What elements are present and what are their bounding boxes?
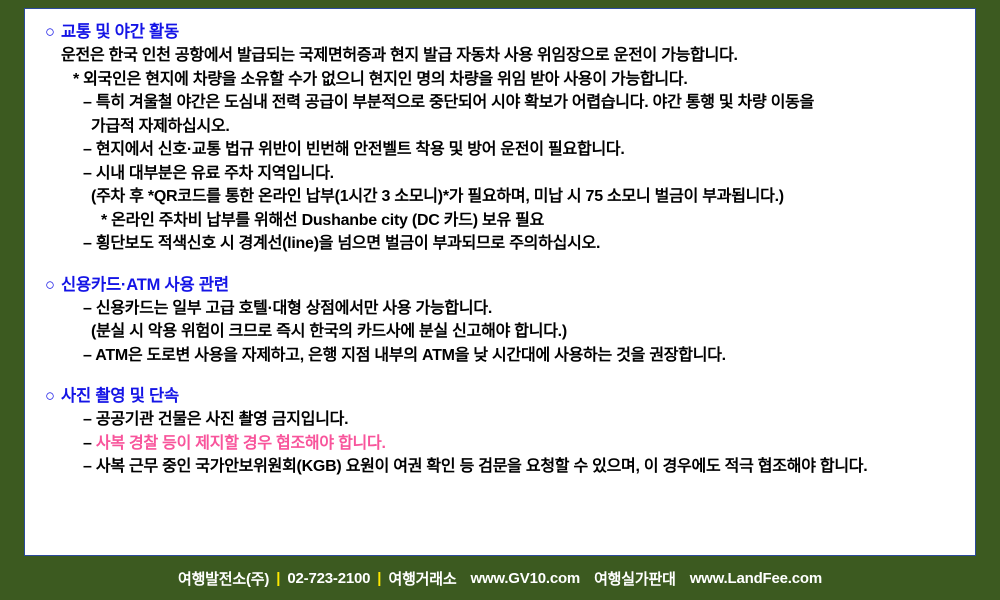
slide-footer: 여행발전소(주) | 02-723-2100 | 여행거래소 www.GV10.… xyxy=(0,556,1000,600)
footer-site-1[interactable]: www.GV10.com xyxy=(470,570,580,587)
footer-brand-1: 여행거래소 xyxy=(388,568,456,589)
circle-bullet-icon: ○ xyxy=(45,385,61,408)
body-line-text: 사복 경찰 등이 제지할 경우 협조해야 합니다. xyxy=(96,435,386,452)
body-line: * 온라인 주차비 납부를 위해선 Dushanbe city (DC 카드) … xyxy=(25,209,976,233)
section-heading-text: 사진 촬영 및 단속 xyxy=(61,387,179,405)
slide: ○교통 및 야간 활동운전은 한국 인천 공항에서 발급되는 국제면허증과 현지… xyxy=(0,0,1000,600)
body-line: – 현지에서 신호·교통 법규 위반이 빈번해 안전벨트 착용 및 방어 운전이… xyxy=(25,138,976,162)
body-line: 운전은 한국 인천 공항에서 발급되는 국제면허증과 현지 발급 자동차 사용 … xyxy=(25,44,976,68)
section-heading: ○교통 및 야간 활동 xyxy=(25,21,976,44)
content-panel: ○교통 및 야간 활동운전은 한국 인천 공항에서 발급되는 국제면허증과 현지… xyxy=(24,8,976,556)
body-line: – 공공기관 건물은 사진 촬영 금지입니다. xyxy=(25,408,976,432)
footer-brand-2: 여행실가판대 xyxy=(594,568,676,589)
circle-bullet-icon: ○ xyxy=(45,21,61,44)
footer-separator-1: | xyxy=(269,570,287,587)
circle-bullet-icon: ○ xyxy=(45,274,61,297)
section-heading: ○사진 촬영 및 단속 xyxy=(25,385,976,408)
body-line: (분실 시 악용 위험이 크므로 즉시 한국의 카드사에 분실 신고해야 합니다… xyxy=(25,320,976,344)
body-line: – ATM은 도로변 사용을 자제하고, 은행 지점 내부의 ATM을 낮 시간… xyxy=(25,344,976,368)
footer-site-2[interactable]: www.LandFee.com xyxy=(690,570,822,587)
footer-phone: 02-723-2100 xyxy=(287,570,370,587)
body-line: – 특히 겨울철 야간은 도심내 전력 공급이 부분적으로 중단되어 시야 확보… xyxy=(25,91,976,115)
body-line: – 횡단보도 적색신호 시 경계선(line)을 넘으면 벌금이 부과되므로 주… xyxy=(25,232,976,256)
body-line: 가급적 자제하십시오. xyxy=(25,115,976,139)
body-line: (주차 후 *QR코드를 통한 온라인 납부(1시간 3 소모니)*가 필요하며… xyxy=(25,185,976,209)
body-line: – 사복 근무 중인 국가안보위원회(KGB) 요원이 여권 확인 등 검문을 … xyxy=(25,455,976,479)
section-heading-text: 교통 및 야간 활동 xyxy=(61,23,179,41)
section-gap xyxy=(25,256,976,274)
body-line: * 외국인은 현지에 차량을 소유할 수가 없으니 현지인 명의 차량을 위임 … xyxy=(25,68,976,92)
body-line: – 신용카드는 일부 고급 호텔·대형 상점에서만 사용 가능합니다. xyxy=(25,297,976,321)
body-line: – 시내 대부분은 유료 주차 지역입니다. xyxy=(25,162,976,186)
dash-marker: – xyxy=(83,435,96,452)
section-heading-text: 신용카드·ATM 사용 관련 xyxy=(61,276,229,294)
footer-company: 여행발전소(주) xyxy=(178,568,269,589)
section-gap xyxy=(25,367,976,385)
section-heading: ○신용카드·ATM 사용 관련 xyxy=(25,274,976,297)
content-body: ○교통 및 야간 활동운전은 한국 인천 공항에서 발급되는 국제면허증과 현지… xyxy=(25,9,976,479)
footer-separator-2: | xyxy=(370,570,388,587)
body-line: – 사복 경찰 등이 제지할 경우 협조해야 합니다. xyxy=(25,432,976,456)
